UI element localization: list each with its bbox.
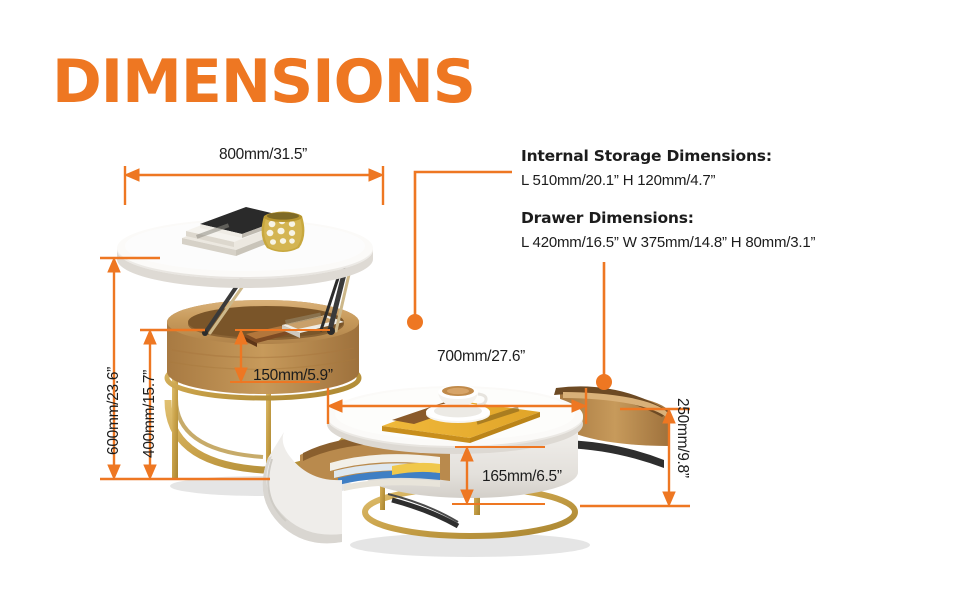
yellow-book bbox=[382, 400, 540, 443]
coffee-cup bbox=[426, 385, 490, 423]
dimension-label-storage-depth: 150mm/5.9” bbox=[253, 367, 333, 385]
stacked-books-on-top bbox=[182, 207, 292, 256]
info-block-drawer: Drawer Dimensions: L 420mm/16.5” W 375mm… bbox=[521, 209, 815, 251]
page-title: DIMENSIONS bbox=[52, 52, 475, 112]
dimension-label-closed-height: 400mm/15.7” bbox=[141, 370, 159, 458]
info-block-internal-storage: Internal Storage Dimensions: L 510mm/20.… bbox=[521, 147, 772, 189]
dimension-label-nest-body-height: 165mm/6.5” bbox=[482, 468, 562, 486]
nest-table-top bbox=[327, 386, 583, 454]
open-drawer bbox=[263, 432, 458, 543]
gold-candle-holder bbox=[262, 212, 305, 253]
internal-storage-heading: Internal Storage Dimensions: bbox=[521, 147, 772, 165]
dimension-label-nest-total-height: 250mm/9.8” bbox=[673, 398, 691, 478]
dimension-label-top-width: 800mm/31.5” bbox=[219, 146, 307, 164]
internal-storage-detail: L 510mm/20.1” H 120mm/4.7” bbox=[521, 172, 772, 189]
drawer-detail: L 420mm/16.5” W 375mm/14.8” H 80mm/3.1” bbox=[521, 234, 815, 251]
nest-drawer-carcass bbox=[554, 386, 670, 468]
nesting-table-group bbox=[263, 385, 670, 557]
lift-table-top bbox=[117, 219, 373, 288]
books-in-storage bbox=[243, 313, 344, 347]
lift-mechanism bbox=[202, 270, 350, 336]
drawer-heading: Drawer Dimensions: bbox=[521, 209, 815, 227]
infographic-canvas: DIMENSIONS bbox=[0, 0, 970, 600]
dimension-label-total-height: 600mm/23.6” bbox=[105, 367, 123, 455]
books-in-drawer bbox=[330, 454, 440, 491]
dimension-label-nest-width: 700mm/27.6” bbox=[437, 348, 525, 366]
